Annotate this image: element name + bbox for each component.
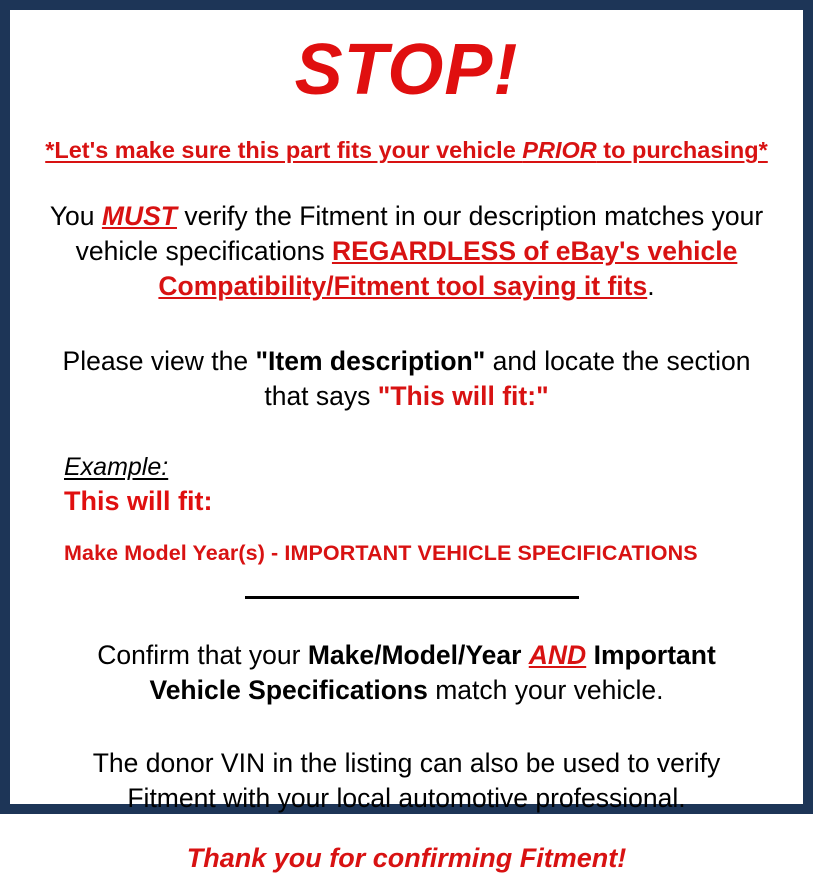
verify-fitment-paragraph: You MUST verify the Fitment in our descr… [32, 199, 781, 304]
example-block: Example: This will fit: Make Model Year(… [32, 452, 781, 566]
fitment-notice-card: STOP! *Let's make sure this part fits yo… [0, 0, 813, 814]
page-title: STOP! [32, 34, 781, 106]
divider-line [245, 596, 579, 599]
section-divider [32, 592, 781, 602]
make-model-year-emphasis: Make/Model/Year [308, 640, 522, 670]
confirm-paragraph: Confirm that your Make/Model/Year AND Im… [32, 638, 781, 708]
donor-vin-paragraph: The donor VIN in the listing can also be… [32, 746, 781, 816]
and-emphasis: AND [529, 640, 586, 670]
view-description-paragraph: Please view the "Item description" and l… [32, 344, 781, 414]
confirm-text-part2: match your vehicle. [428, 675, 664, 705]
viewdesc-text-part1: Please view the [63, 346, 256, 376]
this-will-fit-quote: "This will fit:" [378, 381, 549, 411]
thank-you-message: Thank you for confirming Fitment! [32, 842, 781, 874]
verify-text-part1: You [50, 201, 102, 231]
confirm-text-part1: Confirm that your [97, 640, 308, 670]
tagline-after-text: to purchasing* [597, 137, 768, 163]
tagline: *Let's make sure this part fits your veh… [32, 136, 781, 165]
notice-content: STOP! *Let's make sure this part fits yo… [10, 10, 803, 804]
tagline-prior-emphasis: PRIOR [522, 137, 596, 163]
example-spec-line: Make Model Year(s) - IMPORTANT VEHICLE S… [64, 541, 781, 567]
must-emphasis: MUST [102, 201, 177, 231]
verify-text-part3: . [647, 271, 654, 301]
example-label: Example: [64, 452, 168, 482]
item-description-emphasis: "Item description" [255, 346, 485, 376]
tagline-before-text: *Let's make sure this part fits your veh… [45, 137, 522, 163]
example-label-row: Example: [64, 452, 781, 482]
example-fit-heading: This will fit: [64, 485, 781, 517]
